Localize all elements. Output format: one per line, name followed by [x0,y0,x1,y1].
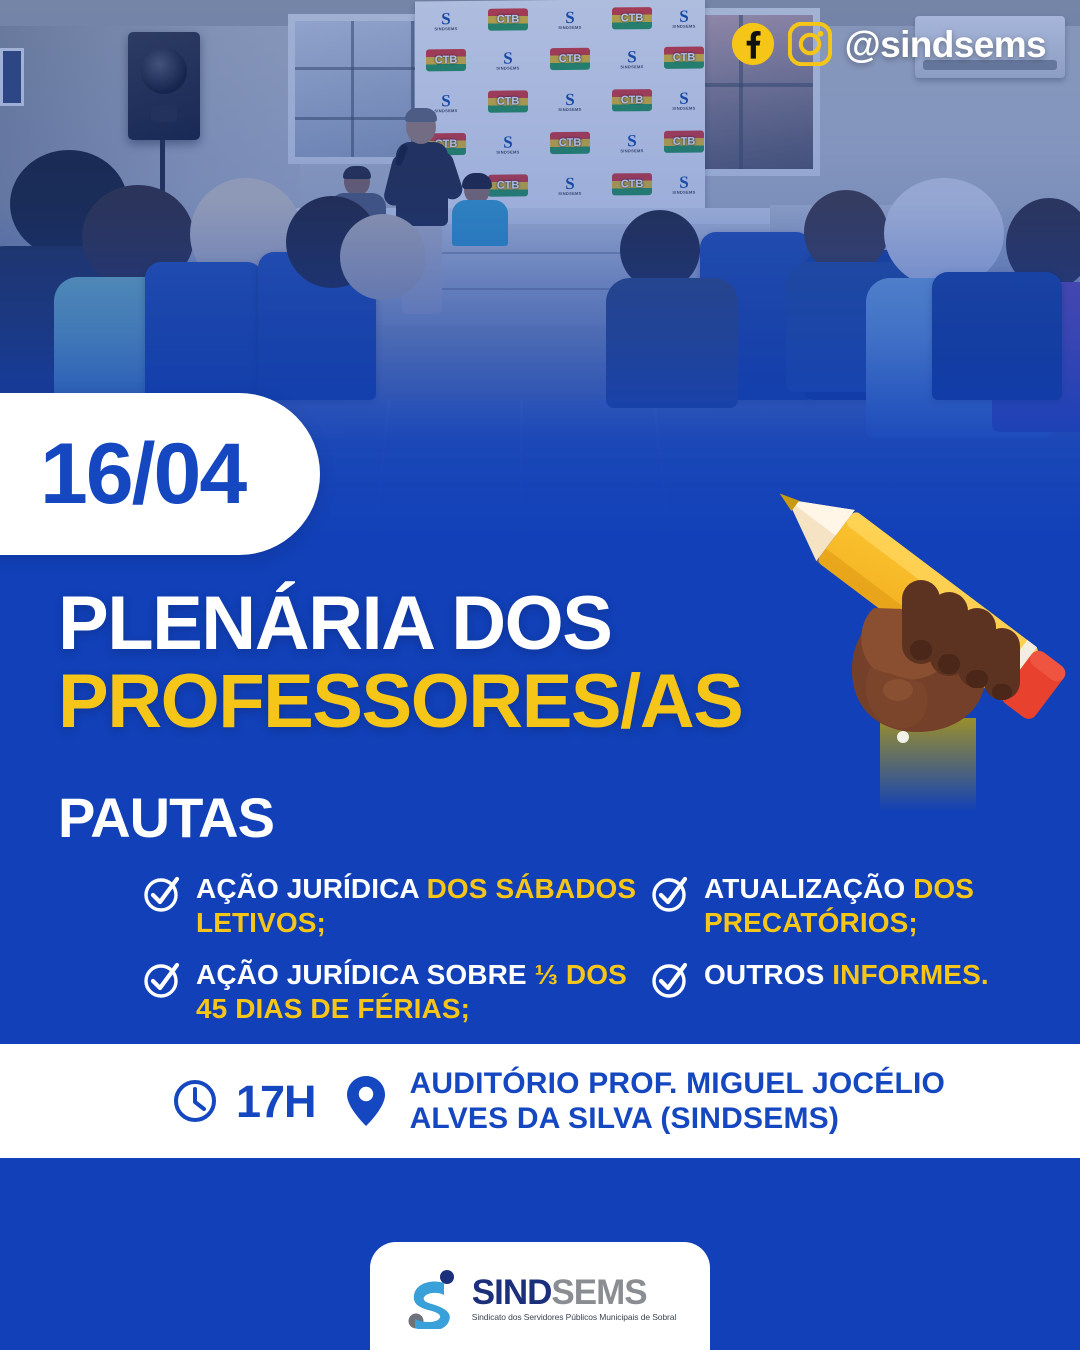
instagram-icon[interactable] [788,22,832,66]
clock-icon [172,1078,218,1124]
agenda-list: AÇÃO JURÍDICA DOS SÁBADOS LETIVOS; ATUAL… [142,872,1072,1027]
list-item: AÇÃO JURÍDICA SOBRE ⅓ DOS 45 DIAS DE FÉR… [142,958,642,1026]
check-circle-icon [142,874,182,914]
list-item-text-white: OUTROS [704,959,832,990]
facebook-icon[interactable] [731,22,775,66]
social-handle-text: @sindsems [845,26,1046,63]
agenda-title: PAUTAS [58,790,274,846]
sindsems-wordmark: SINDSEMS Sindicato dos Servidores Públic… [472,1275,676,1322]
check-circle-icon [650,960,690,1000]
check-circle-icon [650,874,690,914]
event-time: 17H [236,1079,316,1124]
event-info-band: 17H AUDITÓRIO PROF. MIGUEL JOCÉLIO ALVES… [0,1044,1080,1158]
event-location-line-2: ALVES DA SILVA (SINDSEMS) [410,1102,839,1135]
date-badge-text: 16/04 [40,431,245,517]
list-item: AÇÃO JURÍDICA DOS SÁBADOS LETIVOS; [142,872,642,940]
check-circle-icon [142,960,182,1000]
headline: PLENÁRIA DOS PROFESSORES/AS [58,588,742,739]
list-item-text-accent: INFORMES. [832,959,988,990]
event-location-line-1: AUDITÓRIO PROF. MIGUEL JOCÉLIO [410,1067,945,1100]
headline-line-1: PLENÁRIA DOS [58,588,742,661]
wordmark-part-a: SIND [472,1273,552,1312]
sindsems-tagline: Sindicato dos Servidores Públicos Munici… [472,1313,676,1322]
list-item-text-white: AÇÃO JURÍDICA SOBRE [196,959,535,990]
headline-line-2: PROFESSORES/AS [58,665,742,739]
list-item-text-white: AÇÃO JURÍDICA [196,873,427,904]
date-badge: 16/04 [0,393,320,555]
location-pin-icon [346,1075,386,1127]
sindsems-s-mark-icon [404,1269,460,1329]
list-item-text-white: ATUALIZAÇÃO [704,873,913,904]
list-item-text: ATUALIZAÇÃO DOS PRECATÓRIOS; [704,872,1070,940]
list-item-text: AÇÃO JURÍDICA DOS SÁBADOS LETIVOS; [196,872,642,940]
poster-canvas: SSINDSEMS CTB SSINDSEMS CTB SSINDSEMS CT… [0,0,1080,1350]
wordmark-part-b: SEMS [551,1273,646,1312]
hand-holding-pencil-illustration [762,432,1080,812]
event-location: AUDITÓRIO PROF. MIGUEL JOCÉLIO ALVES DA … [410,1066,945,1136]
sindsems-wordmark-line: SINDSEMS [472,1275,647,1310]
list-item: ATUALIZAÇÃO DOS PRECATÓRIOS; [650,872,1070,940]
list-item-text: OUTROS INFORMES. [704,958,989,992]
sindsems-logo-card: SINDSEMS Sindicato dos Servidores Públic… [370,1242,710,1350]
social-handle-group: @sindsems [731,22,1046,66]
list-item-text: AÇÃO JURÍDICA SOBRE ⅓ DOS 45 DIAS DE FÉR… [196,958,642,1026]
event-info-inner: 17H AUDITÓRIO PROF. MIGUEL JOCÉLIO ALVES… [0,1066,945,1136]
list-item: OUTROS INFORMES. [650,958,1070,1026]
